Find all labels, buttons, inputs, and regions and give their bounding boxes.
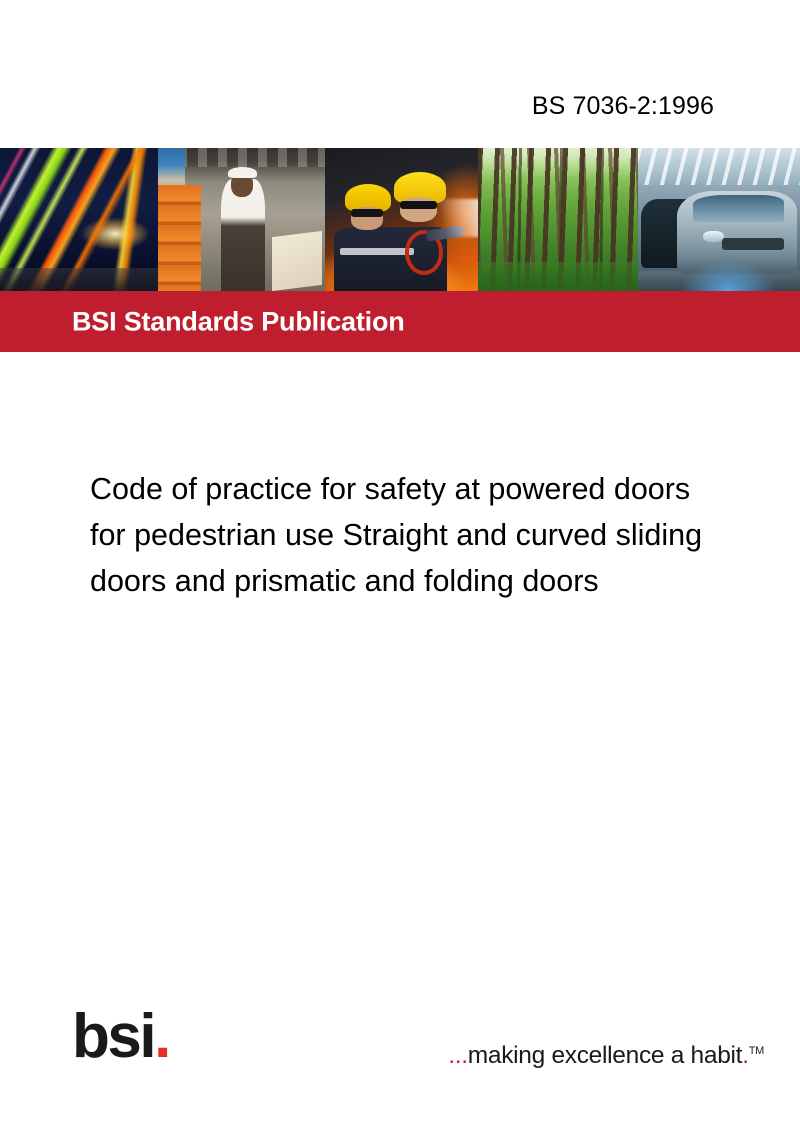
warehouse-crates [158,185,201,291]
photo-strip [0,148,800,291]
photo-panel-forest [478,148,638,291]
warehouse-worker-cap [228,167,256,178]
factory-ceiling-lights [638,148,800,185]
bsi-logo: bsi. [72,1006,169,1068]
bsi-logo-text: bsi [72,1002,154,1071]
warehouse-box [272,231,322,291]
photo-panel-car-production-line [638,148,800,291]
firefighter-visor-rear [351,209,383,216]
trademark-symbol: TM [749,1045,764,1057]
page-title: Code of practice for safety at powered d… [90,466,780,604]
factory-floor-glow [680,260,777,291]
page-title-line-3: doors and prismatic and folding doors [90,558,780,604]
bsi-logo-dot: . [154,1002,169,1071]
standard-number: BS 7036-2:1996 [532,92,714,121]
photo-panel-warehouse-worker [158,148,325,291]
tagline-text: making excellence a habit [468,1042,742,1069]
water-spray [429,199,478,236]
photo-panel-firefighters [325,148,478,291]
tagline-ellipsis: ... [448,1042,468,1069]
car-headlight [703,231,724,242]
page-title-line-2: for pedestrian use Straight and curved s… [90,512,780,558]
photo-panel-light-trails-night-traffic [0,148,158,291]
forest-floor [478,262,638,291]
car-grille [722,238,784,249]
bsi-tagline: ...making excellence a habit.TM [448,1036,764,1071]
bsi-standards-banner: BSI Standards Publication [0,291,800,352]
car-windshield [693,195,784,222]
cover-page: BS 7036-2:1996 [0,0,800,1132]
page-title-line-1: Code of practice for safety at powered d… [90,466,780,512]
firefighter-reflective-stripe [340,248,413,255]
banner-title: BSI Standards Publication [72,306,405,337]
